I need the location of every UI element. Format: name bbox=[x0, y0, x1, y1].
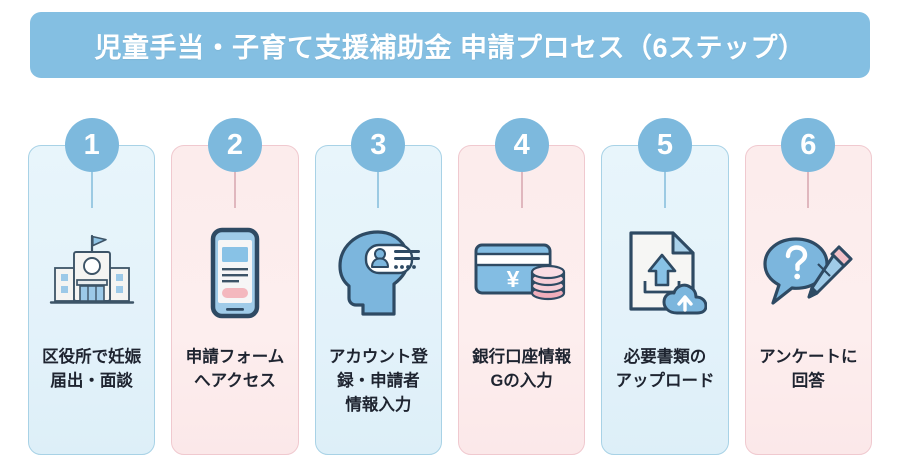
question-bubble-pencil-icon bbox=[745, 223, 872, 323]
step-card-5[interactable]: 5 必要書類の アップロード bbox=[601, 118, 728, 455]
step-card-2[interactable]: 2 申請フォーム へアクセス bbox=[171, 118, 298, 455]
government-building-icon bbox=[28, 223, 155, 323]
page-title: 児童手当・子育て支援補助金 申請プロセス（6ステップ） bbox=[94, 26, 805, 65]
step-connector-line-5 bbox=[664, 170, 666, 208]
step-label-3: アカウント登 録・申請者 情報入力 bbox=[321, 346, 436, 418]
svg-text:¥: ¥ bbox=[506, 266, 519, 292]
step-label-4: 銀行口座情報 Gの入力 bbox=[464, 346, 579, 394]
document-cloud-upload-icon bbox=[601, 223, 728, 323]
step-number-badge-3: 3 bbox=[351, 118, 405, 172]
step-card-1[interactable]: 1 bbox=[28, 118, 155, 455]
head-profile-account-icon bbox=[315, 223, 442, 323]
step-number-badge-4: 4 bbox=[495, 118, 549, 172]
step-connector-line-2 bbox=[234, 170, 236, 208]
step-number-badge-1: 1 bbox=[65, 118, 119, 172]
page-title-banner: 児童手当・子育て支援補助金 申請プロセス（6ステップ） bbox=[30, 12, 870, 78]
step-connector-line-4 bbox=[521, 170, 523, 208]
step-label-5: 必要書類の アップロード bbox=[607, 346, 722, 394]
step-number-badge-5: 5 bbox=[638, 118, 692, 172]
step-number-badge-2: 2 bbox=[208, 118, 262, 172]
step-connector-line-1 bbox=[91, 170, 93, 208]
process-steps-row: 1 bbox=[28, 118, 872, 458]
step-card-3[interactable]: 3 アカウント登 録・申請者 情報入力 bbox=[315, 118, 442, 455]
step-connector-line-3 bbox=[377, 170, 379, 208]
step-label-6: アンケートに 回答 bbox=[751, 346, 866, 394]
step-label-2: 申請フォーム へアクセス bbox=[177, 346, 292, 394]
step-label-1: 区役所で妊娠 届出・面談 bbox=[34, 346, 149, 394]
step-connector-line-6 bbox=[807, 170, 809, 208]
step-number-badge-6: 6 bbox=[781, 118, 835, 172]
step-card-4[interactable]: 4 ¥ 銀行口座情報 Gの入力 bbox=[458, 118, 585, 455]
bank-card-yen-coins-icon: ¥ bbox=[458, 223, 585, 323]
step-card-6[interactable]: 6 アンケートに 回答 bbox=[745, 118, 872, 455]
smartphone-form-icon bbox=[171, 223, 298, 323]
